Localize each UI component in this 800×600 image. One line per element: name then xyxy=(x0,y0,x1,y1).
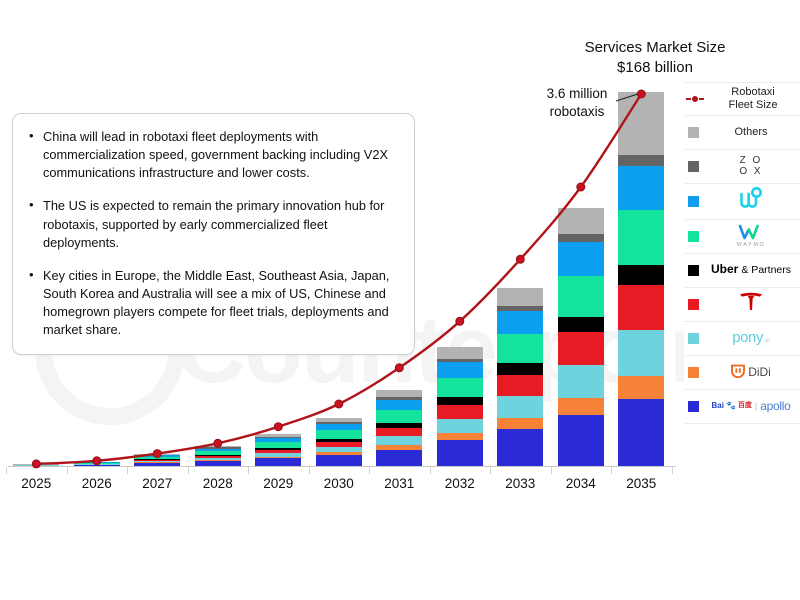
page-title: Services Market Size $168 billion xyxy=(560,38,750,79)
bar-segment-zoox xyxy=(618,155,664,166)
bar-segment-waymo xyxy=(497,334,543,363)
legend-line-marker-icon xyxy=(686,96,704,102)
bar-segment-others xyxy=(376,390,422,397)
legend-swatch-icon xyxy=(688,401,699,412)
legend-item-robotaxi-fleet-size[interactable]: RobotaxiFleet Size xyxy=(684,82,800,116)
legend-label-tesla xyxy=(706,291,800,317)
bar-segment-weride xyxy=(437,362,483,378)
legend-label-others: Others xyxy=(706,126,800,139)
legend-swatch-icon xyxy=(688,231,699,242)
didi-logo-icon xyxy=(731,364,745,379)
bar-segment-didi xyxy=(437,433,483,440)
x-tick-mark xyxy=(490,467,491,474)
bar-segment-others xyxy=(437,347,483,359)
bar-segment-didi xyxy=(558,398,604,415)
bar-segment-pony-ai xyxy=(376,436,422,445)
x-tick-mark xyxy=(188,467,189,474)
fleet-size-callout: 3.6 million robotaxis xyxy=(537,85,617,120)
bar-segment-baidu-apollo xyxy=(437,440,483,466)
legend-label-robotaxi-fleet-size: RobotaxiFleet Size xyxy=(710,86,800,112)
chart-legend: RobotaxiFleet SizeOthersZ OO XWAYMOUber … xyxy=(684,82,800,424)
bar-segment-baidu-apollo xyxy=(255,458,301,466)
legend-label-pony-ai: pony.ai xyxy=(706,329,800,347)
bar-segment-waymo xyxy=(618,210,664,265)
legend-label-zoox: Z OO X xyxy=(706,156,800,177)
legend-item-waymo[interactable]: WAYMO xyxy=(684,220,800,254)
insights-panel: China will lead in robotaxi fleet deploy… xyxy=(12,113,415,355)
x-axis-label-2027: 2027 xyxy=(127,476,187,491)
callout-line1: 3.6 million xyxy=(537,85,617,103)
bar-2029[interactable] xyxy=(255,434,301,467)
callout-line2: robotaxis xyxy=(537,103,617,121)
legend-swatch-icon xyxy=(688,196,699,207)
bar-segment-weride xyxy=(497,311,543,334)
legend-swatch-icon xyxy=(688,265,699,276)
bar-segment-baidu-apollo xyxy=(376,450,422,466)
bar-segment-uber-partners xyxy=(497,363,543,374)
bar-2034[interactable] xyxy=(558,208,604,466)
legend-swatch-icon xyxy=(688,127,699,138)
legend-item-tesla[interactable] xyxy=(684,288,800,322)
legend-label-uber-partners: Uber & Partners xyxy=(706,262,800,277)
x-tick-mark xyxy=(6,467,7,474)
bar-segment-others xyxy=(497,288,543,306)
legend-item-zoox[interactable]: Z OO X xyxy=(684,150,800,184)
legend-label-weride xyxy=(706,187,800,215)
bar-segment-others xyxy=(558,208,604,235)
bar-2030[interactable] xyxy=(316,417,362,466)
bar-segment-waymo xyxy=(316,430,362,438)
x-tick-mark xyxy=(611,467,612,474)
bar-segment-didi xyxy=(618,376,664,399)
bar-2033[interactable] xyxy=(497,288,543,466)
insight-bullet: China will lead in robotaxi fleet deploy… xyxy=(27,128,398,182)
bar-segment-pony-ai xyxy=(618,330,664,376)
legend-item-didi[interactable]: DiDi xyxy=(684,356,800,390)
bar-2032[interactable] xyxy=(437,347,483,466)
bar-2028[interactable] xyxy=(195,446,241,466)
bar-segment-weride xyxy=(376,400,422,410)
bar-segment-weride xyxy=(316,424,362,431)
bar-segment-baidu-apollo xyxy=(497,429,543,466)
bar-segment-tesla xyxy=(437,405,483,419)
legend-swatch-icon xyxy=(688,333,699,344)
x-tick-mark xyxy=(248,467,249,474)
x-tick-mark xyxy=(430,467,431,474)
bar-segment-pony-ai xyxy=(497,396,543,418)
legend-swatch-icon xyxy=(688,161,699,172)
bar-segment-weride xyxy=(618,166,664,211)
x-axis-label-2025: 2025 xyxy=(6,476,66,491)
x-axis-label-2028: 2028 xyxy=(188,476,248,491)
legend-swatch-icon xyxy=(688,299,699,310)
legend-label-baidu-apollo: Bai🐾百度|apollo xyxy=(706,399,800,413)
x-tick-mark xyxy=(67,467,68,474)
bar-segment-uber-partners xyxy=(437,397,483,405)
x-tick-mark xyxy=(369,467,370,474)
bar-segment-waymo xyxy=(558,276,604,317)
insight-bullet: Key cities in Europe, the Middle East, S… xyxy=(27,267,398,340)
bar-2031[interactable] xyxy=(376,390,422,466)
legend-item-others[interactable]: Others xyxy=(684,116,800,150)
x-axis-label-2030: 2030 xyxy=(309,476,369,491)
weride-logo-icon xyxy=(738,187,764,211)
bar-segment-weride xyxy=(558,242,604,275)
bar-segment-tesla xyxy=(618,285,664,331)
bar-segment-pony-ai xyxy=(437,419,483,433)
x-axis-tick-row: 2025202620272028202920302031203220332034… xyxy=(0,467,676,501)
legend-item-baidu-apollo[interactable]: Bai🐾百度|apollo xyxy=(684,390,800,424)
bar-segment-others xyxy=(618,92,664,155)
x-tick-mark xyxy=(127,467,128,474)
bar-segment-waymo xyxy=(437,378,483,398)
x-axis-label-2033: 2033 xyxy=(490,476,550,491)
x-axis-label-2031: 2031 xyxy=(369,476,429,491)
insight-bullet: The US is expected to remain the primary… xyxy=(27,197,398,251)
x-axis-label-2029: 2029 xyxy=(248,476,308,491)
legend-item-uber-partners[interactable]: Uber & Partners xyxy=(684,254,800,288)
bar-segment-tesla xyxy=(558,332,604,364)
bar-segment-baidu-apollo xyxy=(558,415,604,466)
bar-2035[interactable] xyxy=(618,92,664,466)
insights-list: China will lead in robotaxi fleet deploy… xyxy=(27,128,398,340)
chart-title-line1: Services Market Size xyxy=(560,38,750,58)
bar-segment-baidu-apollo xyxy=(618,399,664,466)
bar-segment-waymo xyxy=(376,410,422,423)
tesla-logo-icon xyxy=(736,291,766,313)
waymo-logo-icon xyxy=(738,224,764,241)
bar-segment-uber-partners xyxy=(618,265,664,285)
chart-title-line2: $168 billion xyxy=(560,58,750,78)
x-tick-mark xyxy=(551,467,552,474)
legend-item-pony-ai[interactable]: pony.ai xyxy=(684,322,800,356)
bar-segment-baidu-apollo xyxy=(316,455,362,466)
x-axis-label-2034: 2034 xyxy=(551,476,611,491)
bar-segment-pony-ai xyxy=(558,365,604,398)
legend-label-waymo: WAYMO xyxy=(706,224,800,249)
bar-2027[interactable] xyxy=(134,454,180,466)
x-axis-label-2026: 2026 xyxy=(67,476,127,491)
bar-segment-zoox xyxy=(558,234,604,242)
bar-segment-didi xyxy=(497,418,543,429)
bar-segment-uber-partners xyxy=(558,317,604,333)
x-axis-label-2035: 2035 xyxy=(611,476,671,491)
x-tick-mark xyxy=(672,467,673,474)
legend-swatch-icon xyxy=(688,367,699,378)
x-tick-mark xyxy=(309,467,310,474)
bar-segment-tesla xyxy=(497,375,543,396)
x-axis-label-2032: 2032 xyxy=(430,476,490,491)
legend-label-didi: DiDi xyxy=(706,364,800,380)
legend-item-weride[interactable] xyxy=(684,184,800,219)
bar-segment-tesla xyxy=(376,428,422,436)
